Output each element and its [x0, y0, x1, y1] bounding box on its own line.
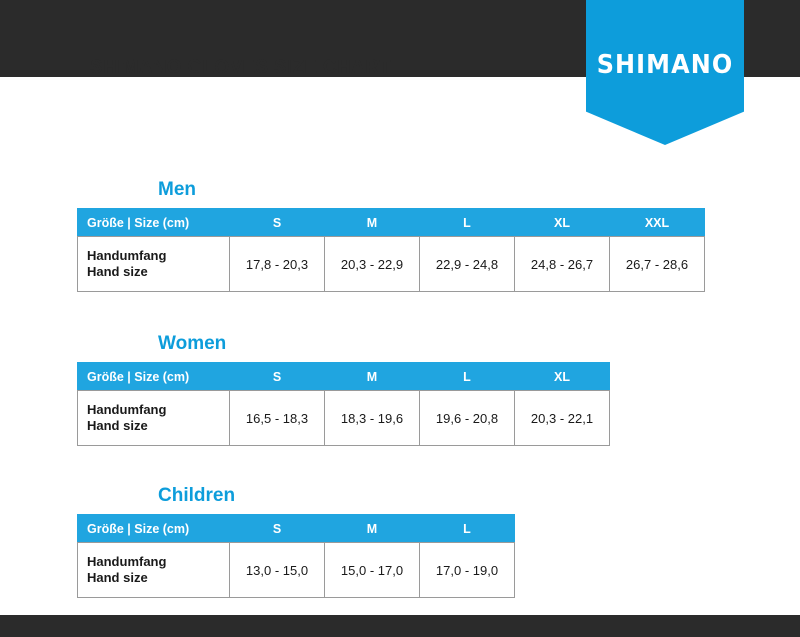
header-cell-s: S: [230, 209, 325, 237]
row-label-line2: Hand size: [87, 264, 228, 280]
group-title-children: Children: [158, 486, 515, 506]
row-label-line1: Handumfang: [87, 554, 166, 569]
header-cell-label: Größe | Size (cm): [78, 209, 230, 237]
value-cell-xl: 20,3 - 22,1: [515, 391, 610, 446]
value-cell-s: 13,0 - 15,0: [230, 543, 325, 598]
value-cell-xxl: 26,7 - 28,6: [610, 237, 705, 292]
header-cell-s: S: [230, 363, 325, 391]
header-cell-l: L: [420, 515, 515, 543]
size-table-block-men: Men Größe | Size (cm) S M L XL XXL Handu…: [77, 180, 705, 292]
value-cell-s: 16,5 - 18,3: [230, 391, 325, 446]
value-cell-xl: 24,8 - 26,7: [515, 237, 610, 292]
value-cell-l: 22,9 - 24,8: [420, 237, 515, 292]
shimano-logo-text: SHIMANO: [592, 50, 737, 80]
row-label-hand-size: Handumfang Hand size: [78, 391, 230, 446]
value-cell-l: 19,6 - 20,8: [420, 391, 515, 446]
header-cell-l: L: [420, 209, 515, 237]
header-cell-m: M: [325, 209, 420, 237]
row-label-hand-size: Handumfang Hand size: [78, 543, 230, 598]
value-cell-m: 18,3 - 19,6: [325, 391, 420, 446]
value-cell-l: 17,0 - 19,0: [420, 543, 515, 598]
table-row: Handumfang Hand size 16,5 - 18,3 18,3 - …: [78, 391, 610, 446]
row-label-line2: Hand size: [87, 570, 228, 586]
header-cell-xxl: XXL: [610, 209, 705, 237]
header-cell-s: S: [230, 515, 325, 543]
table-header-row: Größe | Size (cm) S M L XL XXL: [78, 209, 705, 237]
table-header-row: Größe | Size (cm) S M L XL: [78, 363, 610, 391]
size-table-block-children: Children Größe | Size (cm) S M L Handumf…: [77, 486, 515, 598]
row-label-hand-size: Handumfang Hand size: [78, 237, 230, 292]
header-cell-xl: XL: [515, 363, 610, 391]
header-cell-m: M: [325, 515, 420, 543]
header-cell-xl: XL: [515, 209, 610, 237]
size-table-children: Größe | Size (cm) S M L Handumfang Hand …: [77, 514, 515, 598]
size-table-men: Größe | Size (cm) S M L XL XXL Handumfan…: [77, 208, 705, 292]
value-cell-s: 17,8 - 20,3: [230, 237, 325, 292]
shimano-ribbon: SHIMANO: [586, 0, 744, 145]
header-cell-label: Größe | Size (cm): [78, 515, 230, 543]
page-title: SHIMANO GLOVES SIZE CHART: [90, 58, 391, 77]
footer-band: [0, 615, 800, 637]
value-cell-m: 15,0 - 17,0: [325, 543, 420, 598]
row-label-line2: Hand size: [87, 418, 228, 434]
group-title-men: Men: [158, 180, 705, 200]
row-label-line1: Handumfang: [87, 402, 166, 417]
header-cell-l: L: [420, 363, 515, 391]
row-label-line1: Handumfang: [87, 248, 166, 263]
header-cell-m: M: [325, 363, 420, 391]
table-row: Handumfang Hand size 17,8 - 20,3 20,3 - …: [78, 237, 705, 292]
value-cell-m: 20,3 - 22,9: [325, 237, 420, 292]
table-header-row: Größe | Size (cm) S M L: [78, 515, 515, 543]
size-table-women: Größe | Size (cm) S M L XL Handumfang Ha…: [77, 362, 610, 446]
size-table-block-women: Women Größe | Size (cm) S M L XL Handumf…: [77, 334, 610, 446]
group-title-women: Women: [158, 334, 610, 354]
header-cell-label: Größe | Size (cm): [78, 363, 230, 391]
table-row: Handumfang Hand size 13,0 - 15,0 15,0 - …: [78, 543, 515, 598]
